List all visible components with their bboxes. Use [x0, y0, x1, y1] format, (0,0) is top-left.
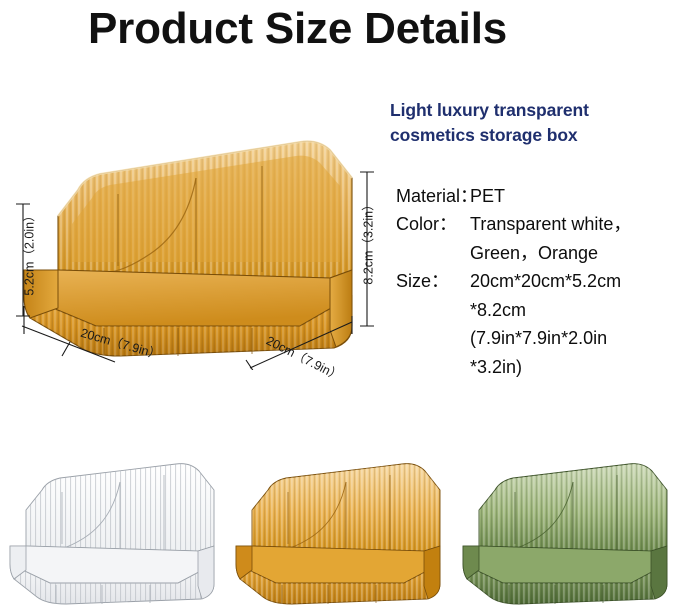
variant-orange	[226, 452, 452, 614]
spec-row-size: Size： 20cm*20cm*5.2cm	[396, 267, 679, 295]
spec-value-color-line2: Green，Orange	[396, 239, 679, 267]
spec-value-size: 20cm*20cm*5.2cm	[470, 267, 679, 295]
product-headline: Light luxury transparent cosmetics stora…	[390, 98, 670, 148]
spec-label-size: Size：	[396, 267, 470, 295]
spec-row-material: Material： PET	[396, 182, 679, 210]
page-title: Product Size Details	[88, 4, 507, 54]
variant-green	[453, 452, 679, 614]
spec-row-color: Color： Transparent white，	[396, 210, 679, 238]
spec-label-color: Color：	[396, 210, 470, 238]
dimension-label-height-back: 8.2cm（3.2in）	[358, 192, 377, 292]
dimension-label-height-front: 5.2cm（2.0in）	[19, 203, 38, 303]
spec-value-size-line2: *8.2cm	[396, 296, 679, 324]
hero-product-image	[0, 120, 380, 370]
variant-row	[0, 452, 679, 614]
spec-value-color: Transparent white，	[470, 210, 679, 238]
variant-transparent-white	[0, 452, 226, 614]
spec-list: Material： PET Color： Transparent white， …	[396, 182, 679, 381]
spec-value-size-line4: *3.2in)	[396, 353, 679, 381]
spec-label-material: Material：	[396, 182, 470, 210]
spec-value-size-line3: (7.9in*7.9in*2.0in	[396, 324, 679, 352]
product-size-details-page: Product Size Details	[0, 0, 679, 614]
spec-value-material: PET	[470, 182, 679, 210]
